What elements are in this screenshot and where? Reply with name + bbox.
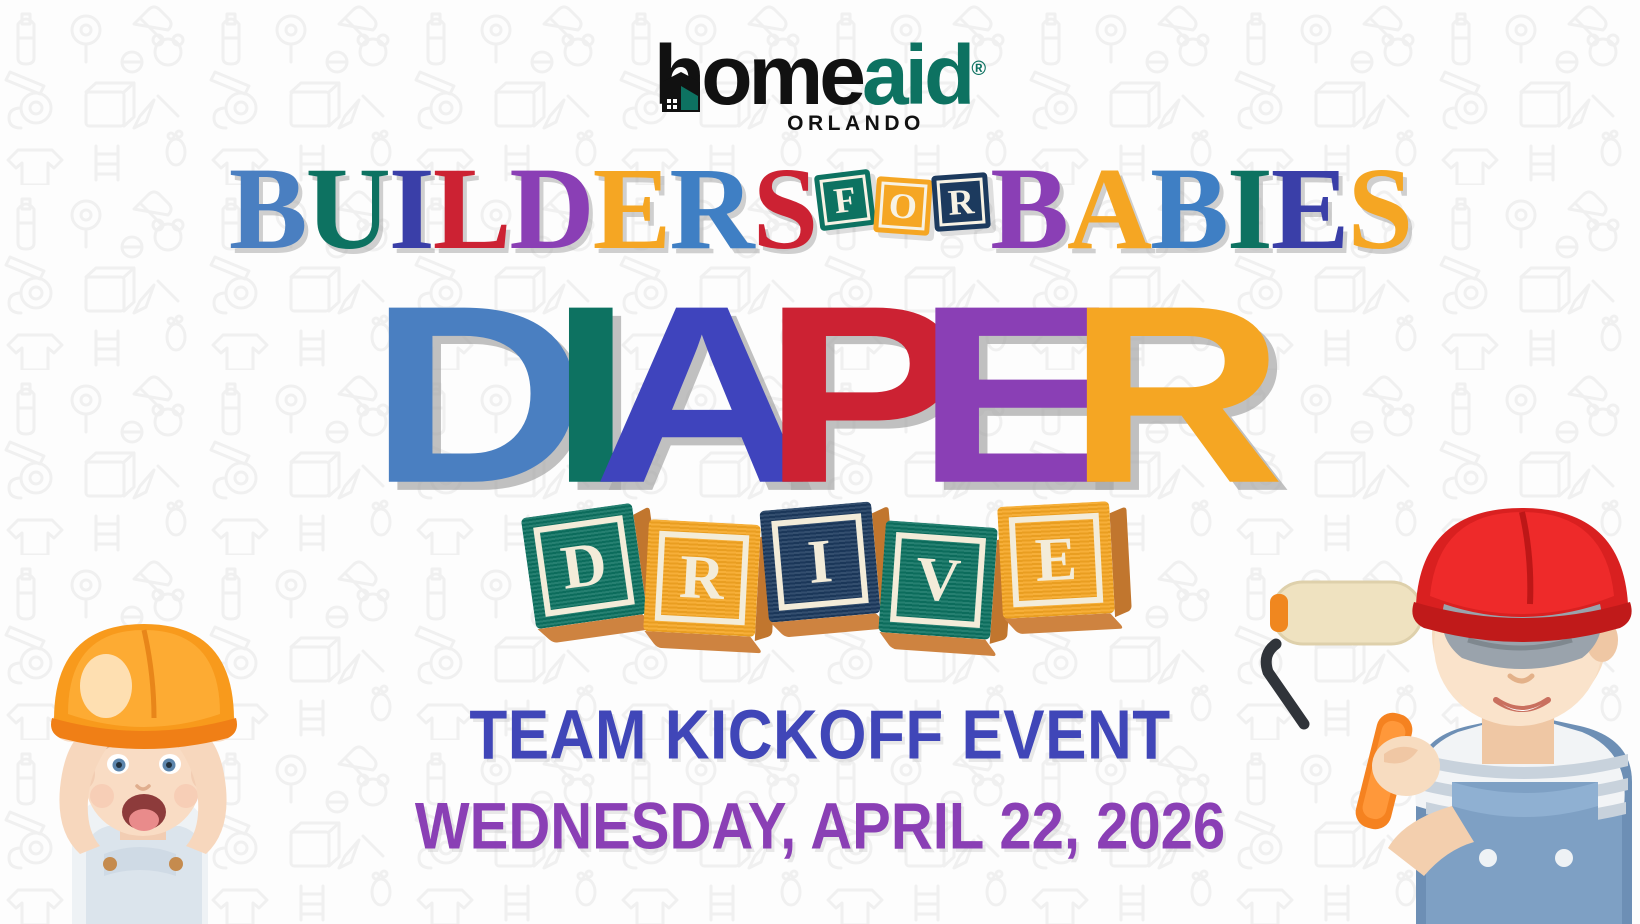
for-block-letter-o: O [879, 181, 928, 230]
diaper-letter-d-0: D [369, 288, 573, 500]
babies-word: BABIES [990, 150, 1411, 268]
for-block-r: R [931, 172, 991, 232]
for-block-o: O [873, 176, 933, 236]
drive-block-d: D [521, 503, 647, 629]
homeaid-logo: homeaid® ORLANDO [0, 38, 1640, 136]
drive-block-v: V [878, 520, 998, 640]
drive-block-border: E [1009, 513, 1104, 608]
drive-block-front-face: V [878, 520, 998, 640]
drive-block-border: R [655, 531, 750, 626]
for-block-f: F [814, 169, 876, 231]
builders-letter-i-2: I [389, 143, 433, 274]
drive-block-e: E [997, 501, 1115, 619]
drive-block-letter-v: V [914, 548, 963, 613]
babies-letter-a-1: A [1067, 143, 1150, 274]
drive-block-letter-r: R [678, 546, 726, 610]
drive-block-border: V [890, 532, 986, 628]
logo-text-aid: aid [862, 28, 971, 122]
logo-wordmark: homeaid® [654, 38, 986, 114]
drive-block-letter-d: D [558, 532, 611, 600]
drive-block-front-face: D [521, 503, 647, 629]
drive-block-i: I [759, 501, 880, 622]
toddler-red-hardhat-paint-roller-photo [1220, 454, 1640, 924]
builders-letter-e-5: E [593, 143, 670, 274]
babies-letter-b-0: B [990, 143, 1067, 274]
house-icon [660, 72, 702, 112]
drive-block-front-face: I [759, 501, 880, 622]
for-block-letter-f: F [820, 174, 871, 225]
builders-letter-u-1: U [306, 143, 389, 274]
builders-letter-b-0: B [229, 143, 306, 274]
builders-for-babies-headline: BUILDERS FOR BABIES [0, 150, 1640, 270]
builders-letter-l-3: L [433, 143, 510, 274]
drive-block-letter-i: I [805, 530, 834, 594]
builders-letter-d-4: D [509, 143, 592, 274]
registered-mark: ® [971, 58, 986, 80]
builders-letter-r-6: R [669, 143, 752, 274]
for-blocks-group: FOR [816, 150, 990, 206]
drive-block-letter-e: E [1034, 528, 1079, 592]
poster-canvas: homeaid® ORLANDO BUILDERS FOR BABIES DIA… [0, 0, 1640, 924]
builders-letter-s-7: S [753, 143, 817, 274]
babies-letter-s-5: S [1348, 143, 1412, 274]
babies-letter-e-4: E [1271, 143, 1348, 274]
for-block-letter-r: R [937, 177, 986, 226]
babies-letter-b-2: B [1150, 143, 1227, 274]
drive-block-border: D [533, 515, 635, 617]
babies-letter-i-3: I [1227, 143, 1271, 274]
drive-block-front-face: R [643, 519, 761, 637]
drive-block-front-face: E [997, 501, 1115, 619]
drive-block-r: R [643, 519, 761, 637]
baby-orange-hardhat-photo [0, 524, 294, 924]
builders-word: BUILDERS [229, 150, 816, 268]
drive-block-border: I [771, 513, 869, 611]
